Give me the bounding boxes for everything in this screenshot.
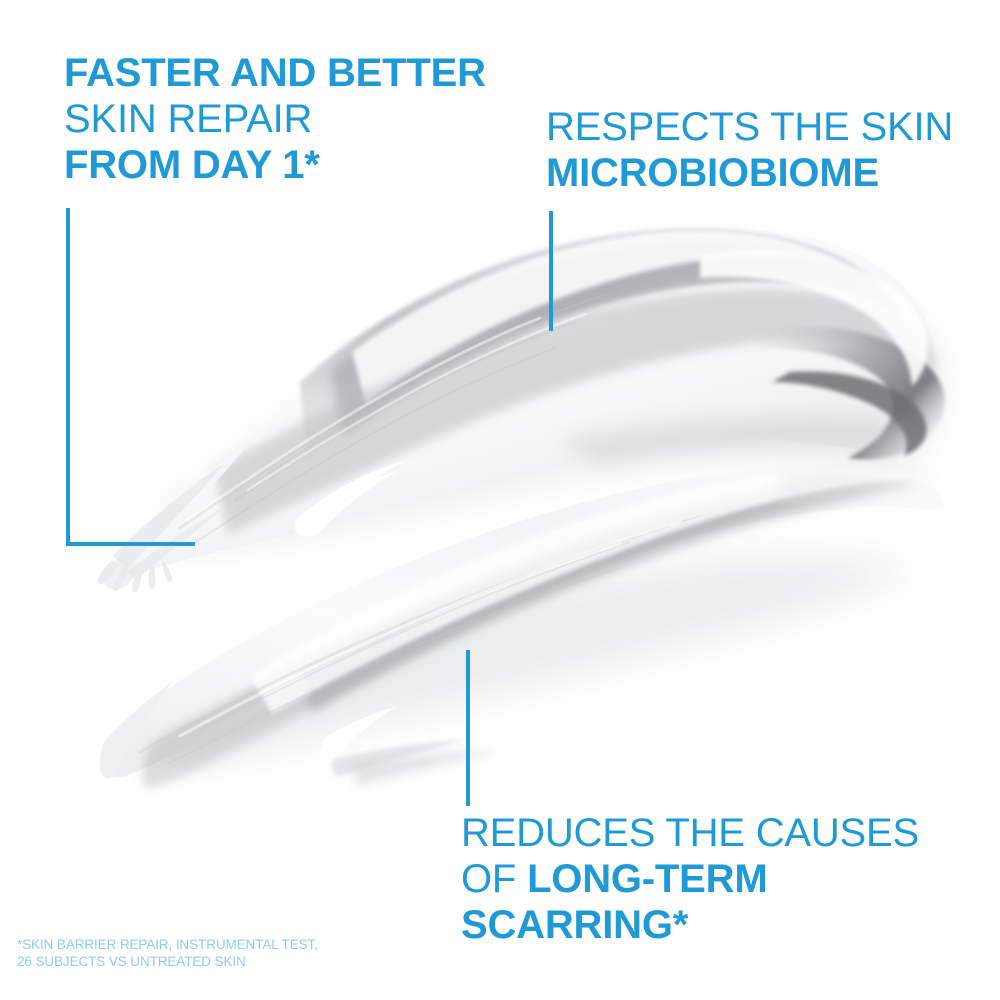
callout-line: SKIN REPAIR (64, 96, 486, 142)
leader-line-left-vertical (66, 208, 70, 546)
callout-line: MICROBIOBIOME (546, 150, 953, 196)
promo-image: FASTER AND BETTER SKIN REPAIR FROM DAY 1… (0, 0, 1000, 1000)
footnote-disclaimer: *SKIN BARRIER REPAIR, INSTRUMENTAL TEST,… (17, 936, 318, 970)
callout-line-bold-part: LONG-TERM (527, 857, 767, 901)
leader-line-bottom-vertical (466, 650, 470, 806)
callout-faster-better-skin-repair: FASTER AND BETTER SKIN REPAIR FROM DAY 1… (64, 50, 486, 188)
callout-respects-skin-microbiobiome: RESPECTS THE SKIN MICROBIOBIOME (546, 104, 953, 196)
callout-reduces-causes-long-term-scarring: REDUCES THE CAUSES OF LONG-TERM SCARRING… (461, 810, 919, 948)
callout-line: FROM DAY 1* (64, 142, 486, 188)
callout-line: SCARRING* (461, 902, 919, 948)
callout-line: OF LONG-TERM (461, 856, 919, 902)
leader-line-middle-vertical (549, 211, 553, 331)
footnote-line: *SKIN BARRIER REPAIR, INSTRUMENTAL TEST, (17, 936, 318, 953)
callout-line: FASTER AND BETTER (64, 50, 486, 96)
callout-line: RESPECTS THE SKIN (546, 104, 953, 150)
footnote-line: 26 SUBJECTS VS UNTREATED SKIN (17, 953, 318, 970)
callout-line: REDUCES THE CAUSES (461, 810, 919, 856)
leader-line-left-horizontal (66, 542, 195, 546)
callout-line-light-part: OF (461, 857, 527, 901)
